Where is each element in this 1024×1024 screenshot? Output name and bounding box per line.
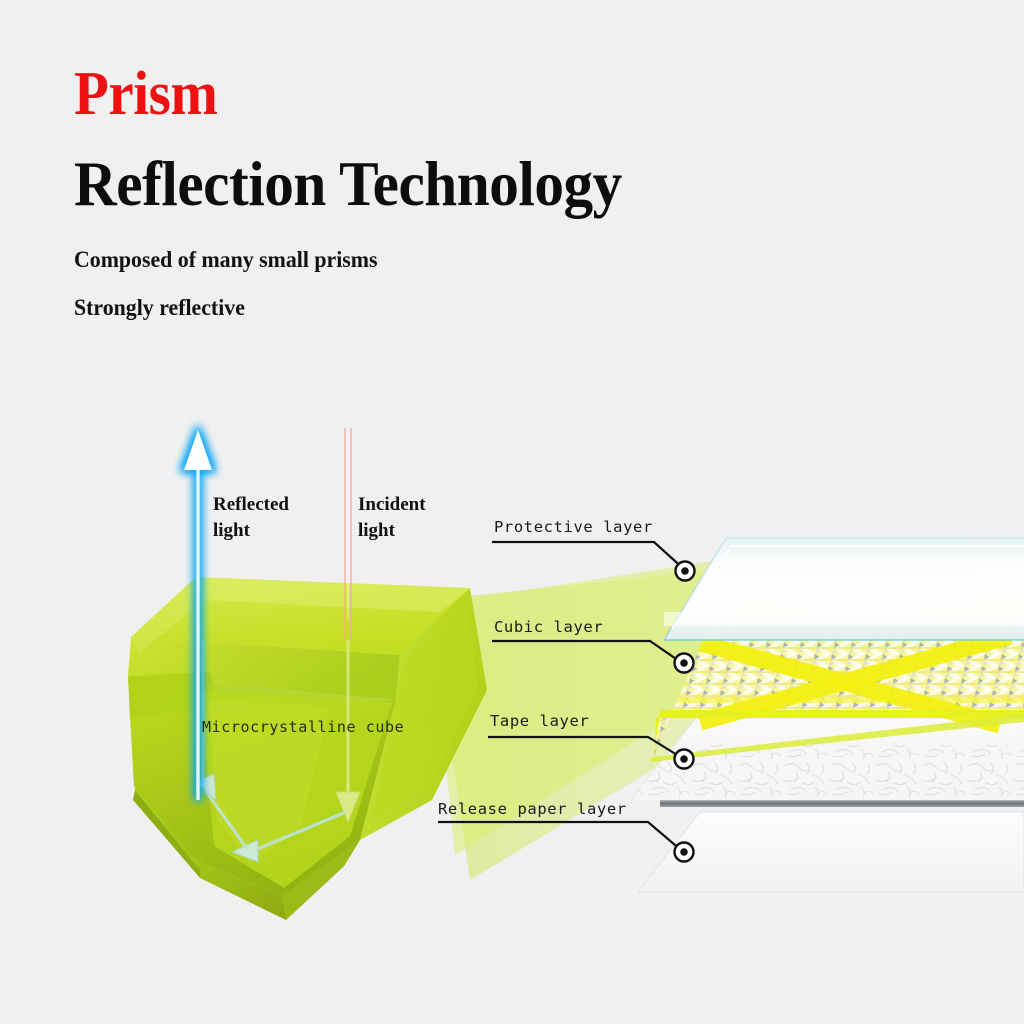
layer-label-release-paper: Release paper layer	[438, 800, 627, 818]
marker-protective	[676, 562, 695, 581]
incident-light-label-line1: Incident	[358, 492, 426, 518]
prism-reflection-infographic: Prism Reflection Technology Composed of …	[0, 0, 1024, 1024]
incident-light-label: Incident light	[358, 492, 426, 543]
marker-tape	[675, 750, 694, 769]
technology-diagram	[0, 0, 1024, 1024]
layer-label-protective: Protective layer	[494, 518, 653, 536]
layer-label-tape: Tape layer	[490, 712, 589, 730]
microcrystalline-cube-label: Microcrystalline cube	[202, 718, 404, 736]
marker-release	[675, 843, 694, 862]
microcrystalline-prism	[128, 577, 487, 920]
marker-cubic	[675, 654, 694, 673]
leader-protective	[492, 542, 686, 571]
incident-light-ray	[345, 428, 351, 640]
incident-light-label-line2: light	[358, 518, 426, 544]
layer-label-cubic: Cubic layer	[494, 618, 603, 636]
release-metal-strip	[660, 800, 1024, 807]
reflected-light-label: Reflected light	[213, 492, 289, 543]
reflected-light-label-line1: Reflected	[213, 492, 289, 518]
layer-protective	[664, 538, 1024, 640]
reflected-light-label-line2: light	[213, 518, 289, 544]
layer-release-paper	[638, 812, 1024, 892]
